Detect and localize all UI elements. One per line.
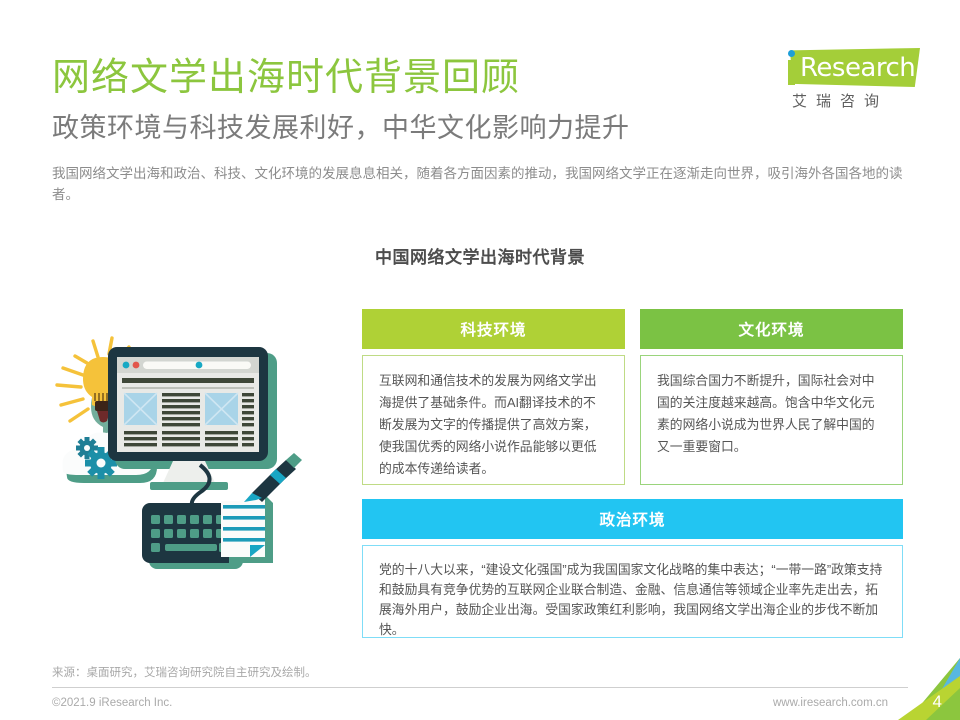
page-subtitle: 政策环境与科技发展利好，中华文化影响力提升 xyxy=(52,110,630,146)
corner-decoration xyxy=(880,658,960,720)
browser-dot-icon xyxy=(133,362,140,369)
computer-workstation-illustration xyxy=(45,335,365,635)
page-title: 网络文学出海时代背景回顾 xyxy=(52,54,520,102)
block-header-tech[interactable]: 科技环境 xyxy=(362,309,625,349)
website-url: www.iresearch.com.cn xyxy=(773,697,888,709)
lead-paragraph: 我国网络文学出海和政治、科技、文化环境的发展息息相关，随着各方面因素的推动，我国… xyxy=(52,163,912,205)
source-note: 来源：桌面研究，艾瑞咨询研究院自主研究及绘制。 xyxy=(52,664,317,680)
footer-divider xyxy=(52,687,908,688)
logo-chinese-text: 艾瑞咨询 xyxy=(792,90,888,111)
diagram-title: 中国网络文学出海时代背景 xyxy=(0,243,960,268)
iresearch-logo: Research 艾瑞咨询 xyxy=(764,44,924,110)
block-body-politics: 党的十八大以来，“建设文化强国”成为我国国家文化战略的集中表达；“一带一路”政策… xyxy=(362,545,903,638)
copyright-text: ©2021.9 iResearch Inc. xyxy=(52,697,172,709)
logo-research-text: Research xyxy=(800,53,915,83)
block-body-tech: 互联网和通信技术的发展为网络文学出海提供了基础条件。而AI翻译技术的不断发展为文… xyxy=(362,355,625,485)
page-number: 4 xyxy=(933,692,942,712)
monitor-base xyxy=(150,482,228,490)
logo-i-stem xyxy=(788,60,795,85)
block-header-politics[interactable]: 政治环境 xyxy=(362,499,903,539)
browser-dot-icon xyxy=(196,362,203,369)
slide-root: Research 艾瑞咨询 网络文学出海时代背景回顾 政策环境与科技发展利好，中… xyxy=(0,0,960,720)
browser-dot-icon xyxy=(123,362,130,369)
logo-i-dot-icon xyxy=(788,50,795,57)
block-body-politics-text: 党的十八大以来，“建设文化强国”成为我国国家文化战略的集中表达；“一带一路”政策… xyxy=(379,560,886,640)
block-body-culture: 我国综合国力不断提升，国际社会对中国的关注度越来越高。饱含中华文化元素的网络小说… xyxy=(640,355,903,485)
block-header-culture[interactable]: 文化环境 xyxy=(640,309,903,349)
